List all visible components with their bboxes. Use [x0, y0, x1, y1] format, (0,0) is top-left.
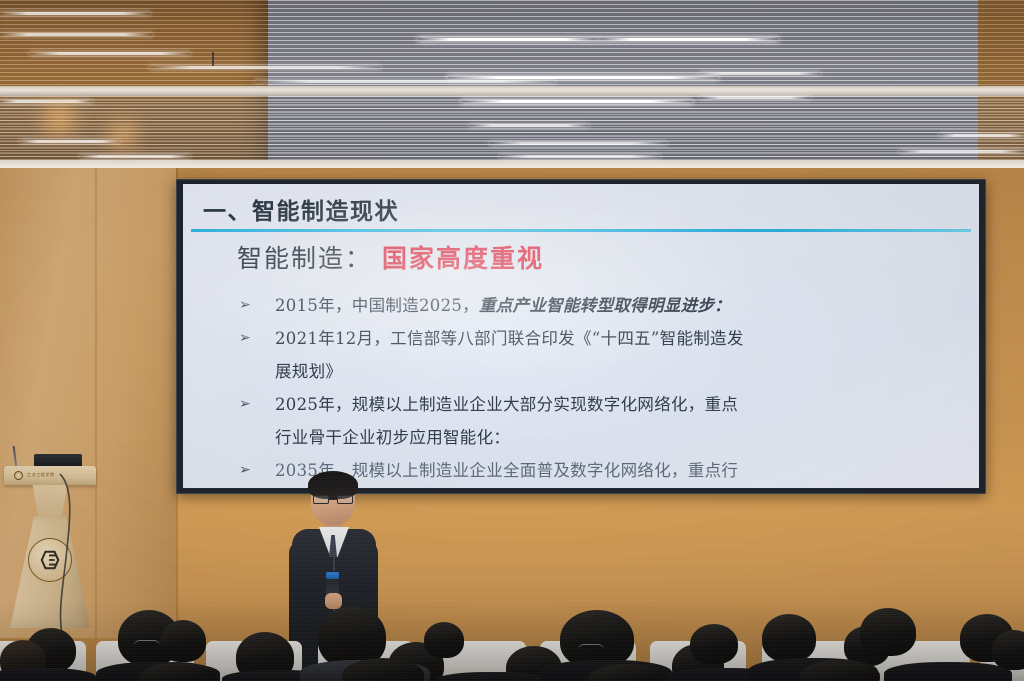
linear-led-strip-light	[700, 96, 810, 99]
linear-led-strip-light	[462, 100, 692, 103]
linear-led-strip-light	[940, 134, 1024, 137]
ceiling-soffit-band	[0, 86, 1024, 96]
linear-led-strip-light	[0, 12, 150, 15]
linear-led-strip-light	[418, 38, 598, 41]
linear-led-strip-light	[598, 38, 778, 41]
ceiling	[0, 0, 1024, 175]
ceiling-warm-glow	[104, 116, 142, 154]
lecture-hall-scene: 一、智能制造现状 智能制造： 国家高度重视 ➢2015年，中国制造2025，重点…	[0, 0, 1024, 681]
linear-led-strip-light	[900, 150, 1024, 153]
linear-led-strip-light	[0, 33, 152, 36]
ceiling-sensor-probe	[212, 52, 214, 66]
ceiling-warm-glow	[36, 96, 82, 142]
linear-led-strip-light	[500, 155, 660, 158]
linear-led-strip-light	[490, 142, 666, 145]
linear-led-strip-light	[80, 155, 190, 158]
ceiling-lower-slat-band	[0, 96, 1024, 160]
linear-led-strip-light	[700, 72, 820, 75]
linear-led-strip-light	[448, 76, 718, 79]
linear-led-strip-light	[150, 66, 380, 69]
linear-led-strip-light	[470, 124, 588, 127]
linear-led-strip-light	[255, 80, 555, 83]
linear-led-strip-light	[30, 52, 190, 55]
scene-vignette	[0, 168, 1024, 681]
